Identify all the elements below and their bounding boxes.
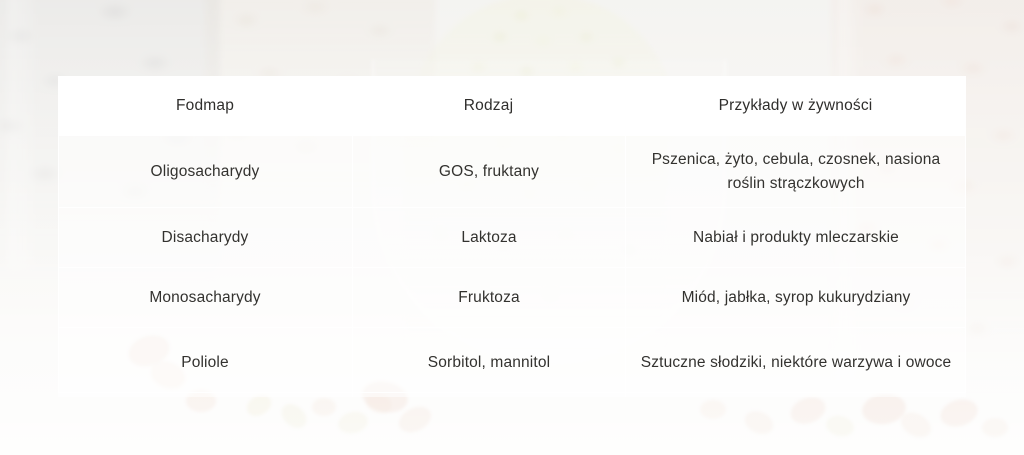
cell-przyklady: Nabiał i produkty mleczarskie <box>625 208 966 267</box>
cell-przyklady: Sztuczne słodziki, niektóre warzywa i ow… <box>625 328 966 397</box>
page-root: Fodmap Rodzaj Przykłady w żywności Oligo… <box>0 0 1024 455</box>
cell-przyklady: Miód, jabłka, syrop kukurydziany <box>625 268 966 327</box>
table-header-row: Fodmap Rodzaj Przykłady w żywności <box>58 76 966 135</box>
cell-rodzaj: Fruktoza <box>352 268 625 327</box>
cell-fodmap: Disacharydy <box>58 208 352 267</box>
cell-rodzaj: GOS, fruktany <box>352 136 625 207</box>
column-header-przyklady: Przykłady w żywności <box>625 76 966 135</box>
table-body: Oligosacharydy GOS, fruktany Pszenica, ż… <box>58 135 966 397</box>
cell-przyklady: Pszenica, żyto, cebula, czosnek, nasiona… <box>625 136 966 207</box>
cell-rodzaj: Sorbitol, mannitol <box>352 328 625 397</box>
table-row: Oligosacharydy GOS, fruktany Pszenica, ż… <box>58 135 966 207</box>
table-row: Poliole Sorbitol, mannitol Sztuczne słod… <box>58 327 966 397</box>
cell-fodmap: Oligosacharydy <box>58 136 352 207</box>
cell-rodzaj: Laktoza <box>352 208 625 267</box>
column-header-rodzaj: Rodzaj <box>352 76 625 135</box>
column-header-fodmap: Fodmap <box>58 76 352 135</box>
cell-fodmap: Poliole <box>58 328 352 397</box>
cell-fodmap: Monosacharydy <box>58 268 352 327</box>
fodmap-table: Fodmap Rodzaj Przykłady w żywności Oligo… <box>58 76 966 393</box>
table-row: Monosacharydy Fruktoza Miód, jabłka, syr… <box>58 267 966 327</box>
table-row: Disacharydy Laktoza Nabiał i produkty ml… <box>58 207 966 267</box>
